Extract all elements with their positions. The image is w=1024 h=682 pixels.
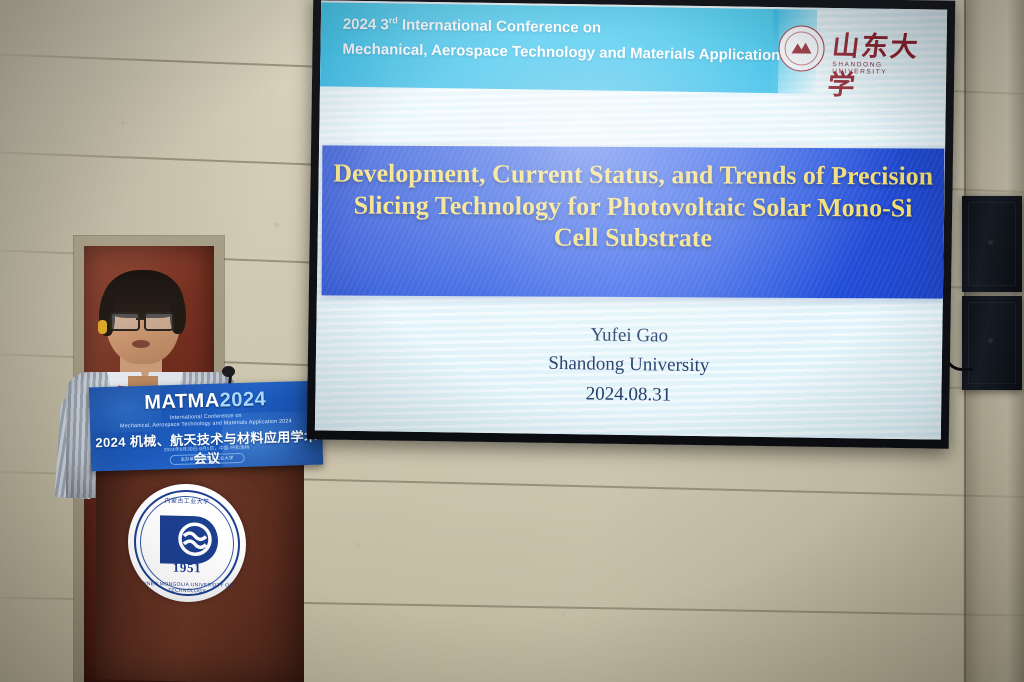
speaker-grill [968,302,1016,384]
logo-english-name: SHANDONG UNIVERSITY [832,61,928,76]
slide-title: Development, Current Status, and Trends … [322,157,944,255]
header-ordinal-suffix: rd [389,15,398,25]
presenter-mouth [132,340,150,348]
emblem-chinese-name: 内蒙古工业大学 [128,495,246,507]
conference-photo-scene: 内蒙古工业大学 1951 INNER MONGOLIA UNIVERSITY O… [0,0,1024,682]
mountain-icon [790,40,812,54]
screen-display-area: 2024 3rd International Conference on Mec… [315,0,947,439]
sign-year: 2024 [219,388,266,411]
eyeglasses-left-lens [110,312,140,331]
speaker-driver-dot [988,240,993,245]
podium-conference-sign: MATMA2024 International Conference on Me… [89,381,323,472]
shandong-university-logo: 山东大学 SHANDONG UNIVERSITY [778,21,929,81]
sign-brand: MATMA [144,390,220,414]
slide-author-block: Yufei Gao Shandong University 2024.08.31 [315,316,942,414]
header-conference-text: International Conference on [398,17,602,37]
earpiece-microphone-icon [98,320,107,334]
projection-screen: 2024 3rd International Conference on Mec… [307,0,956,449]
eyeglasses-right-lens [144,312,174,331]
emblem-founding-year: 1951 [128,559,246,578]
shandong-university-seal-icon [778,25,825,72]
slide-header-line-1: 2024 3rd International Conference on [343,15,601,37]
slide-title-band: Development, Current Status, and Trends … [322,145,945,298]
university-emblem: 内蒙古工业大学 1951 INNER MONGOLIA UNIVERSITY O… [128,483,246,604]
header-year-ordinal: 2024 3 [343,16,389,34]
speaker-driver-dot [988,338,993,343]
eyeglasses-bridge [136,318,144,320]
microphone-icon [222,366,235,377]
